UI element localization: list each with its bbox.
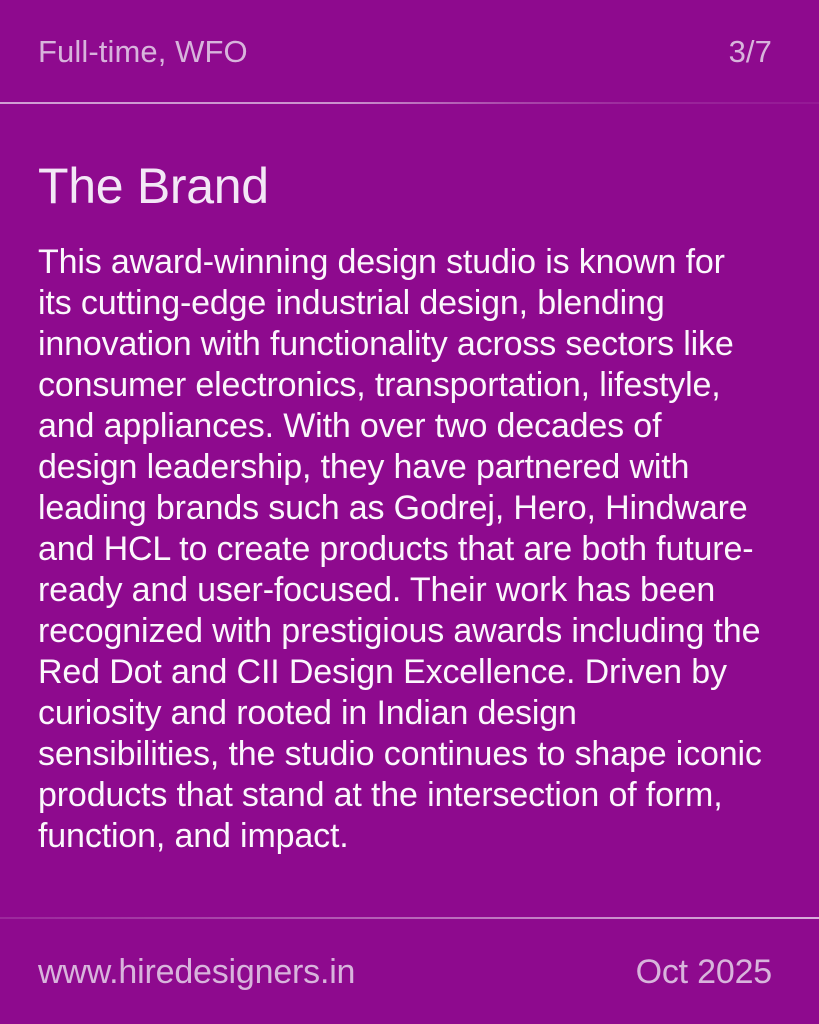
job-type-label: Full-time, WFO <box>38 36 248 67</box>
publish-date: Oct 2025 <box>636 955 772 989</box>
slide-pager: 3/7 <box>729 36 772 67</box>
slide-header: Full-time, WFO 3/7 <box>0 0 819 102</box>
slide-body: The Brand This award-winning design stud… <box>0 104 819 917</box>
slide-footer: www.hiredesigners.in Oct 2025 <box>0 919 819 1024</box>
page-title: The Brand <box>38 160 765 212</box>
brand-description: This award-winning design studio is know… <box>38 242 765 857</box>
website-url[interactable]: www.hiredesigners.in <box>38 955 355 989</box>
slide-card: Full-time, WFO 3/7 The Brand This award-… <box>0 0 819 1024</box>
